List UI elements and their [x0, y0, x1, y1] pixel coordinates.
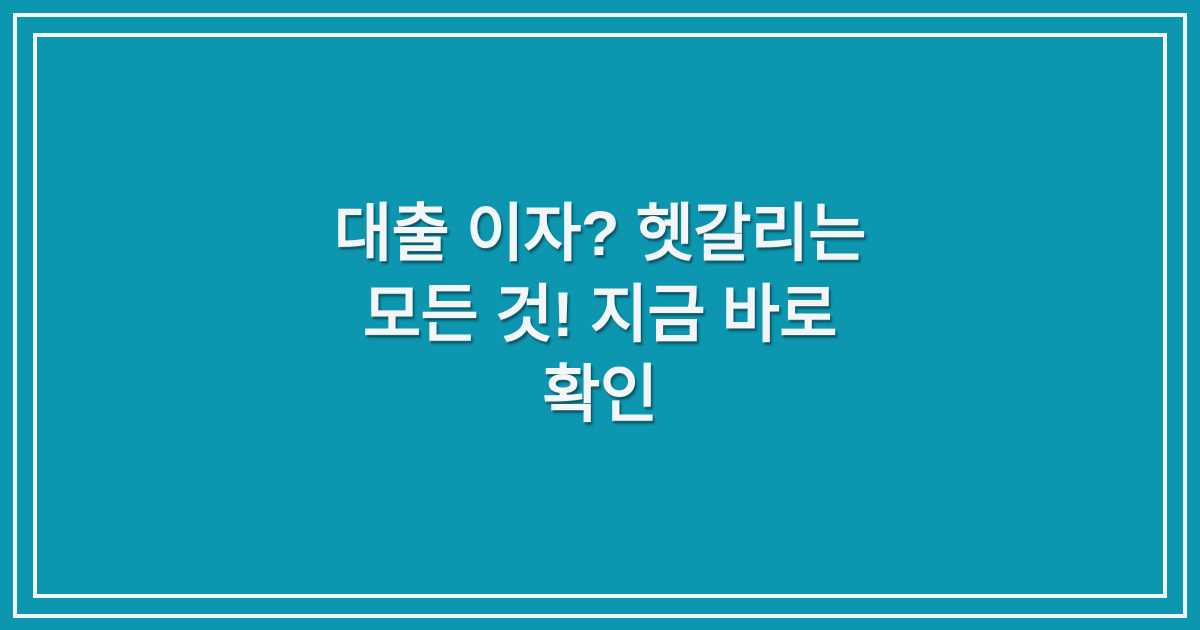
banner-card: 대출 이자? 헷갈리는 모든 것! 지금 바로 확인	[0, 0, 1200, 630]
headline-line-3: 확인	[120, 355, 1080, 436]
headline-line-2: 모든 것! 지금 바로	[120, 275, 1080, 356]
banner-headline: 대출 이자? 헷갈리는 모든 것! 지금 바로 확인	[120, 194, 1080, 436]
headline-line-1: 대출 이자? 헷갈리는	[120, 194, 1080, 275]
headline-container: 대출 이자? 헷갈리는 모든 것! 지금 바로 확인	[0, 0, 1200, 630]
